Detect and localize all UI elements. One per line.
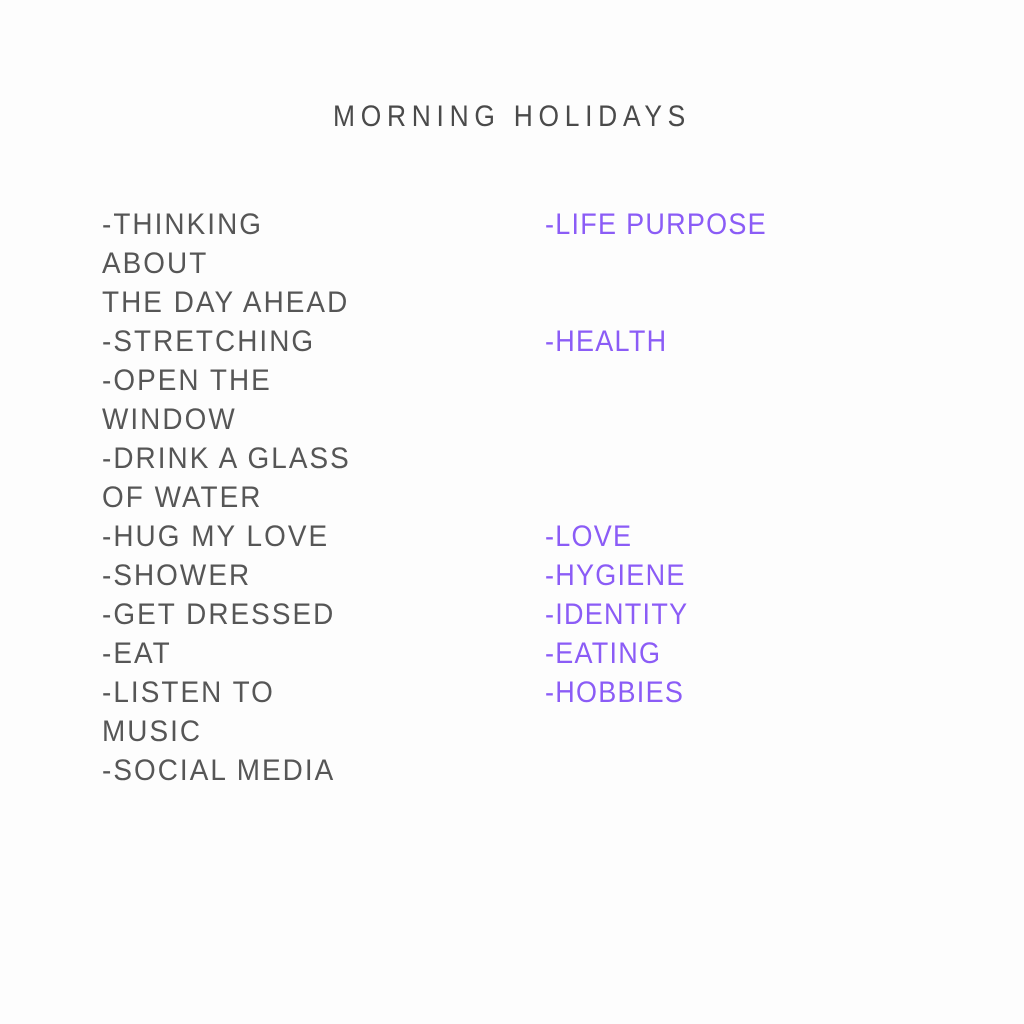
list-row: -HUG MY LOVE -LOVE: [0, 517, 1024, 556]
routine-item: ABOUT: [102, 244, 208, 283]
category-item: -IDENTITY: [545, 595, 688, 634]
list-row: -SOCIAL MEDIA: [0, 751, 1024, 790]
routine-item: -THINKING: [102, 205, 263, 244]
list-row: -OPEN THE: [0, 361, 1024, 400]
routine-item: -DRINK A GLASS: [102, 439, 351, 478]
note-canvas: MORNING HOLIDAYS -THINKING -LIFE PURPOSE…: [0, 0, 1024, 1024]
routine-item: -STRETCHING: [102, 322, 315, 361]
category-item: -EATING: [545, 634, 661, 673]
list-row: -LISTEN TO -HOBBIES: [0, 673, 1024, 712]
routine-list-board: -THINKING -LIFE PURPOSE ABOUT THE DAY AH…: [0, 205, 1024, 825]
list-row: -DRINK A GLASS: [0, 439, 1024, 478]
routine-item: -LISTEN TO: [102, 673, 275, 712]
routine-item: -SHOWER: [102, 556, 251, 595]
routine-item: -EAT: [102, 634, 172, 673]
routine-item: -GET DRESSED: [102, 595, 335, 634]
routine-item: -HUG MY LOVE: [102, 517, 329, 556]
category-item: -HEALTH: [545, 322, 667, 361]
page-title: MORNING HOLIDAYS: [61, 100, 962, 134]
routine-item: -SOCIAL MEDIA: [102, 751, 335, 790]
routine-item: -OPEN THE: [102, 361, 272, 400]
category-item: -LIFE PURPOSE: [545, 205, 767, 244]
category-item: -LOVE: [545, 517, 632, 556]
list-row: -EAT -EATING: [0, 634, 1024, 673]
list-row: OF WATER: [0, 478, 1024, 517]
list-row: MUSIC: [0, 712, 1024, 751]
list-row: ABOUT: [0, 244, 1024, 283]
list-row: -GET DRESSED -IDENTITY: [0, 595, 1024, 634]
routine-item: THE DAY AHEAD: [102, 283, 349, 322]
routine-item: MUSIC: [102, 712, 202, 751]
list-row: THE DAY AHEAD: [0, 283, 1024, 322]
category-item: -HYGIENE: [545, 556, 686, 595]
list-row: -STRETCHING -HEALTH: [0, 322, 1024, 361]
category-item: -HOBBIES: [545, 673, 684, 712]
list-row: -THINKING -LIFE PURPOSE: [0, 205, 1024, 244]
list-row: -SHOWER -HYGIENE: [0, 556, 1024, 595]
list-row: WINDOW: [0, 400, 1024, 439]
routine-item: OF WATER: [102, 478, 263, 517]
routine-item: WINDOW: [102, 400, 237, 439]
